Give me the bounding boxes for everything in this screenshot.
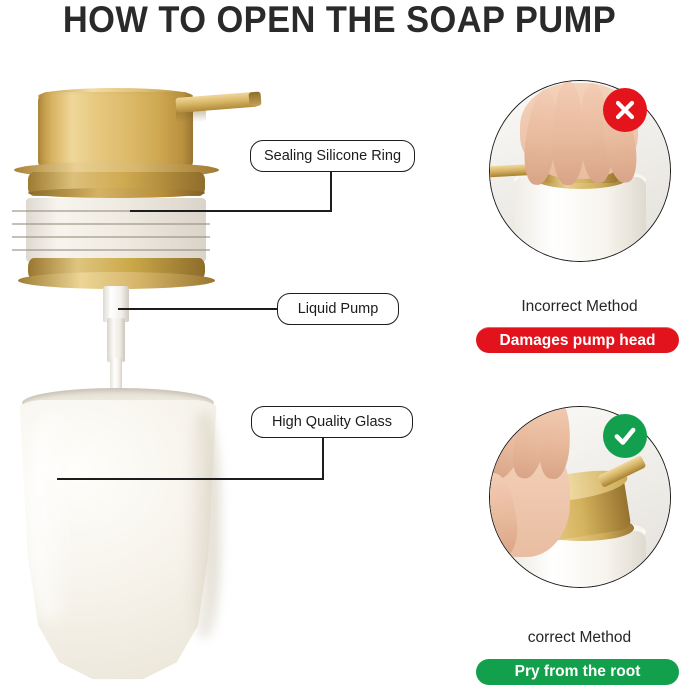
dispenser-body — [514, 177, 646, 262]
pump-stem-mid — [107, 318, 125, 362]
caption-correct-method: correct Method — [480, 629, 679, 647]
page-title: HOW TO OPEN THE SOAP PUMP — [24, 0, 655, 40]
bottle-highlight — [30, 412, 76, 622]
leader-line-liquid-pump — [118, 308, 278, 310]
caption-incorrect-method: Incorrect Method — [480, 298, 679, 316]
leader-line-sealing-ring — [330, 172, 332, 212]
silicone-rib — [12, 249, 210, 251]
callout-sealing-silicone-ring: Sealing Silicone Ring — [250, 140, 415, 172]
silicone-rib — [12, 236, 210, 238]
bottle-edge-shadow — [186, 412, 220, 638]
silicone-rib — [12, 223, 210, 225]
banner-pry-from-the-root: Pry from the root — [476, 659, 679, 685]
cross-icon — [603, 88, 647, 132]
pump-stem-upper — [103, 286, 129, 322]
callout-liquid-pump: Liquid Pump — [277, 293, 399, 325]
pump-spout-tip — [248, 92, 261, 107]
leader-line-glass — [57, 478, 323, 480]
sealing-silicone-ring-stack — [26, 198, 206, 262]
gold-collar-lip — [28, 188, 205, 198]
pump-cap-body — [38, 92, 193, 170]
callout-high-quality-glass: High Quality Glass — [251, 406, 413, 438]
check-icon — [603, 414, 647, 458]
leader-line-glass — [322, 438, 324, 480]
leader-line-sealing-ring — [130, 210, 331, 212]
banner-damages-pump-head: Damages pump head — [476, 327, 679, 353]
